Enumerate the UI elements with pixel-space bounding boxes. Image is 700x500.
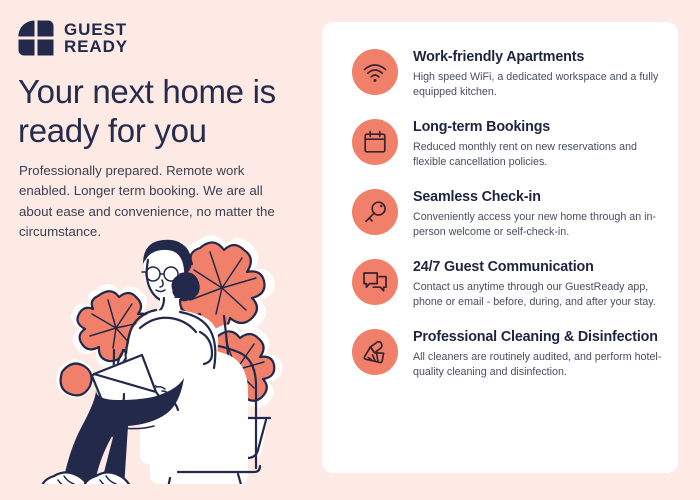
feature-text: 24/7 Guest Communication Contact us anyt…: [413, 258, 662, 311]
illustration-woman-with-laptop: .ln{fill:none;stroke:#22294A;stroke-widt…: [28, 222, 313, 484]
guestready-quadrant-logo-icon: [17, 19, 55, 57]
feature-title: Long-term Bookings: [413, 119, 662, 136]
feature-title: Work-friendly Apartments: [413, 49, 662, 66]
calendar-icon: [352, 119, 398, 165]
chat-bubbles-icon: [352, 259, 398, 305]
feature-text: Professional Cleaning & Disinfection All…: [413, 328, 662, 381]
brand-name-line1: GUEST: [64, 21, 128, 38]
feature-description: Conveniently access your new home throug…: [413, 210, 662, 240]
promo-infographic: GUEST READY Your next home is ready for …: [0, 0, 700, 500]
page-title: Your next home is ready for you: [18, 73, 310, 150]
feature-text: Work-friendly Apartments High speed WiFi…: [413, 48, 662, 101]
feature-title: Seamless Check-in: [413, 189, 662, 206]
key-icon: [352, 189, 398, 235]
feature-item-work-friendly-apartments[interactable]: Work-friendly Apartments High speed WiFi…: [352, 48, 662, 101]
brand-logo[interactable]: GUEST READY: [17, 19, 128, 57]
feature-title: 24/7 Guest Communication: [413, 259, 662, 276]
brand-wordmark: GUEST READY: [64, 21, 128, 56]
feature-item-professional-cleaning[interactable]: Professional Cleaning & Disinfection All…: [352, 328, 662, 381]
feature-description: All cleaners are routinely audited, and …: [413, 350, 662, 380]
feature-description: Contact us anytime through our GuestRead…: [413, 280, 662, 310]
brand-name-line2: READY: [64, 38, 128, 55]
feature-title: Professional Cleaning & Disinfection: [413, 329, 662, 346]
feature-item-guest-communication[interactable]: 24/7 Guest Communication Contact us anyt…: [352, 258, 662, 311]
feature-description: High speed WiFi, a dedicated workspace a…: [413, 70, 662, 100]
feature-text: Seamless Check-in Conveniently access yo…: [413, 188, 662, 241]
left-column: GUEST READY Your next home is ready for …: [0, 0, 322, 500]
feature-item-long-term-bookings[interactable]: Long-term Bookings Reduced monthly rent …: [352, 118, 662, 171]
feature-description: Reduced monthly rent on new reservations…: [413, 140, 662, 170]
broom-icon: [352, 329, 398, 375]
feature-card: Work-friendly Apartments High speed WiFi…: [322, 22, 678, 473]
wifi-icon: [352, 49, 398, 95]
feature-item-seamless-check-in[interactable]: Seamless Check-in Conveniently access yo…: [352, 188, 662, 241]
feature-text: Long-term Bookings Reduced monthly rent …: [413, 118, 662, 171]
